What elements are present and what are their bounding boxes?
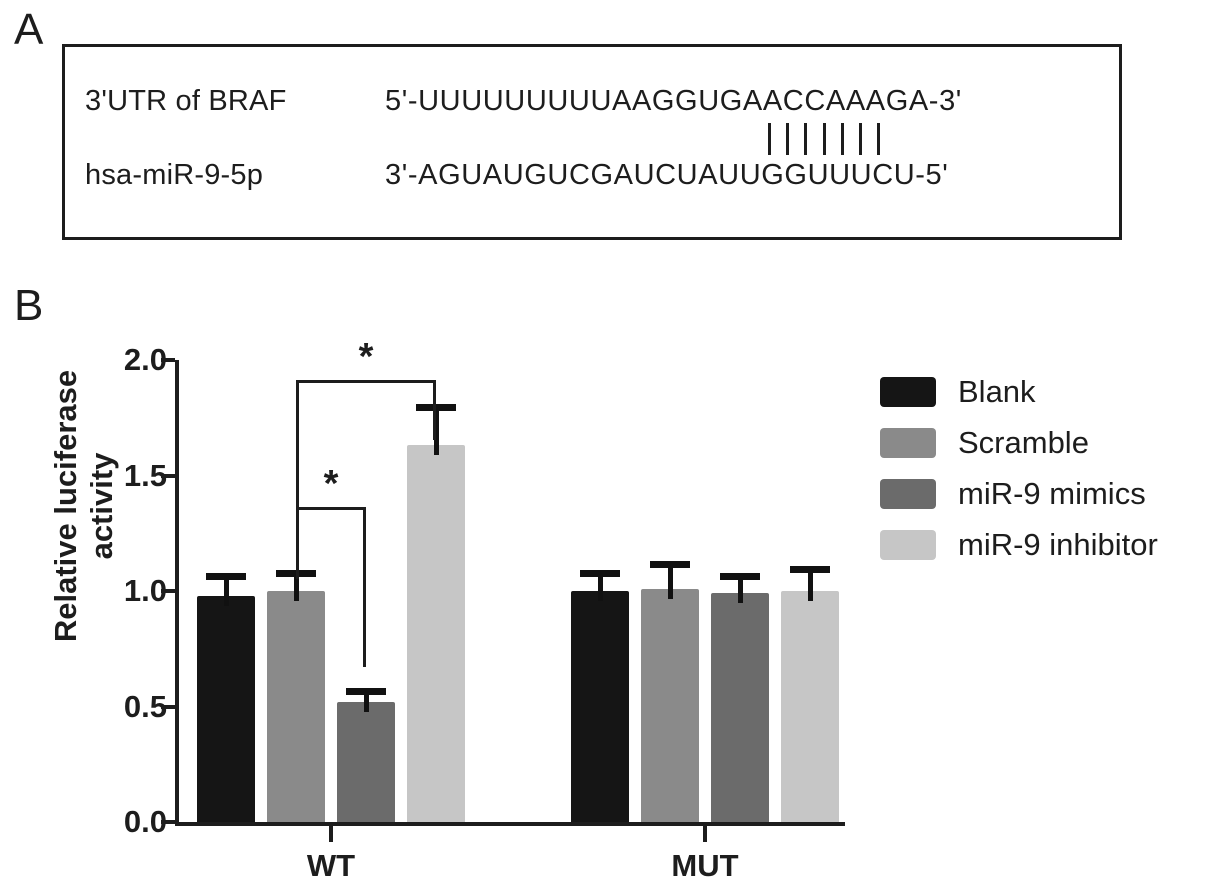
x-tick-mark (329, 826, 333, 842)
bracket-line (296, 380, 436, 383)
sequence-row-mir: hsa-miR-9-5p 3'-AGUAUGUCGAUCUAUUGGUUUCU-… (85, 159, 948, 192)
error-bar-cap (416, 404, 456, 411)
bar-wt-mir-9-inhibitor (407, 360, 465, 822)
error-bar-cap (346, 688, 386, 695)
bar-rect (197, 596, 255, 822)
bracket-tick-right (433, 380, 436, 440)
legend-swatch-mir-9-mimics (880, 479, 936, 509)
error-bar-cap (580, 570, 620, 577)
plot-area: 0.00.51.01.52.0 WTMUT ** (175, 360, 845, 822)
sequence-strand-mir: 3'-AGUAUGUCGAUCUAUUGGUUUCU-5' (385, 159, 948, 192)
y-tick-label: 2.0 (124, 342, 167, 378)
legend-label: miR-9 mimics (958, 476, 1146, 512)
bracket-line (296, 507, 366, 510)
y-tick-label: 0.0 (124, 804, 167, 840)
x-axis-label-wt: WT (307, 848, 355, 884)
bar-mut-scramble (641, 360, 699, 822)
chart-legend: BlankScramblemiR-9 mimicsmiR-9 inhibitor (880, 368, 1158, 572)
sequence-row-utr: 3'UTR of BRAF 5'-UUUUUUUUUAAGGUGAACCAAAG… (85, 85, 962, 118)
legend-swatch-scramble (880, 428, 936, 458)
y-tick-label: 0.5 (124, 689, 167, 725)
pair-bar-icon (841, 123, 844, 155)
pair-bar-icon (877, 123, 880, 155)
bar-rect (337, 702, 395, 822)
y-tick-label: 1.5 (124, 458, 167, 494)
panel-a-letter: A (14, 8, 43, 52)
pair-bar-icon (786, 123, 789, 155)
bracket-tick-right (363, 507, 366, 667)
x-tick-mark (703, 826, 707, 842)
x-axis-line (175, 822, 845, 826)
legend-swatch-blank (880, 377, 936, 407)
bracket-tick-left (296, 380, 299, 528)
legend-label: Blank (958, 374, 1036, 410)
bracket-tick-left (296, 507, 299, 579)
legend-item: Blank (880, 368, 1158, 416)
pair-bar-icon (859, 123, 862, 155)
bar-wt-mir-9-mimics (337, 360, 395, 822)
error-bar-cap (790, 566, 830, 573)
bar-mut-mir-9-inhibitor (781, 360, 839, 822)
bar-wt-blank (197, 360, 255, 822)
legend-item: Scramble (880, 419, 1158, 467)
pair-bar-icon (804, 123, 807, 155)
legend-swatch-mir-9-inhibitor (880, 530, 936, 560)
legend-label: Scramble (958, 425, 1089, 461)
pair-bar-icon (823, 123, 826, 155)
error-bar-cap (650, 561, 690, 568)
bar-rect (571, 591, 629, 822)
bar-rect (407, 445, 465, 822)
significance-asterisk: * (324, 465, 339, 503)
pair-bar-icon (768, 123, 771, 155)
binding-site-box: 3'UTR of BRAF 5'-UUUUUUUUUAAGGUGAACCAAAG… (62, 44, 1122, 240)
y-axis-title: Relative luciferase activity (48, 346, 120, 666)
legend-item: miR-9 inhibitor (880, 521, 1158, 569)
legend-label: miR-9 inhibitor (958, 527, 1158, 563)
bar-rect (711, 593, 769, 822)
y-axis-line (175, 360, 179, 822)
error-bar-cap (206, 573, 246, 580)
sequence-strand-utr: 5'-UUUUUUUUUAAGGUGAACCAAAGA-3' (385, 85, 962, 118)
bar-rect (641, 589, 699, 822)
bar-mut-blank (571, 360, 629, 822)
bar-rect (267, 591, 325, 822)
x-axis-label-mut: MUT (671, 848, 738, 884)
luciferase-bar-chart: Relative luciferase activity 0.00.51.01.… (0, 300, 1205, 880)
legend-item: miR-9 mimics (880, 470, 1158, 518)
sequence-label-mir: hsa-miR-9-5p (85, 159, 385, 192)
base-pairing-bars (768, 123, 880, 155)
bar-mut-mir-9-mimics (711, 360, 769, 822)
sequence-label-utr: 3'UTR of BRAF (85, 85, 385, 118)
significance-asterisk: * (359, 338, 374, 376)
error-bar-cap (720, 573, 760, 580)
y-tick-label: 1.0 (124, 573, 167, 609)
bar-rect (781, 591, 839, 822)
